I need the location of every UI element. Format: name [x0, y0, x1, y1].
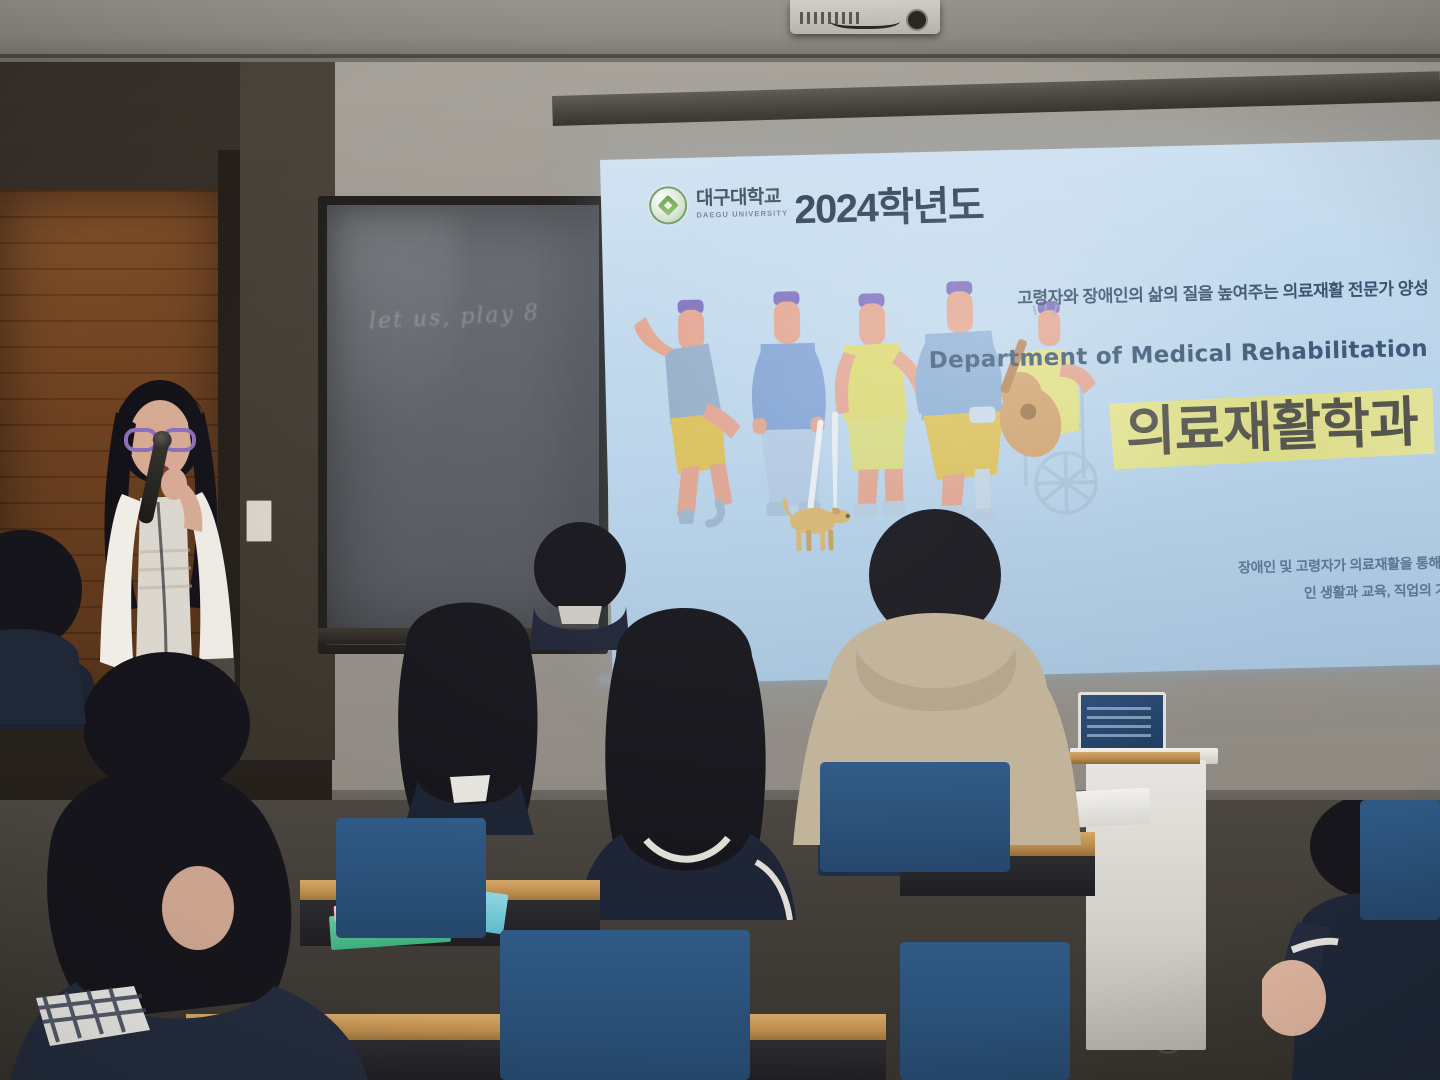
ceiling — [0, 0, 1440, 62]
university-name-kr: 대구대학교 — [696, 188, 788, 209]
chair-blue[interactable] — [900, 942, 1070, 1080]
figure-runner-with-prosthetic — [633, 297, 749, 530]
department-name-korean: 의료재활학과 — [1125, 395, 1419, 460]
student-behind-presenter — [84, 640, 254, 810]
whiteboard-glare — [337, 215, 457, 515]
ceiling-seam — [0, 54, 1440, 58]
university-name-block: 대구대학교 DAEGU UNIVERSITY — [696, 188, 788, 220]
chair-blue[interactable] — [500, 930, 750, 1080]
laptop-screen-content — [1087, 703, 1151, 737]
university-name-en: DAEGU UNIVERSITY — [696, 210, 788, 220]
projector-cable — [830, 10, 900, 29]
slide-tagline: 고령자와 장애인의 삶의 질을 높여주는 의료재활 전문가 양성 — [1017, 274, 1429, 309]
student-long-hair-center — [560, 590, 800, 920]
chair-blue[interactable] — [820, 762, 1010, 872]
university-emblem-icon — [649, 186, 688, 225]
department-title-highlight: 의료재활학과 — [1108, 388, 1434, 470]
chair-blue[interactable] — [1360, 800, 1440, 920]
slide-footnote: 장애인 및 고령자가 의료재활을 통해 인 생활과 교육, 직업의 기회를 누릴… — [1238, 550, 1440, 608]
slide-year: 2024학년도 — [793, 173, 983, 236]
student-long-hair-left — [358, 585, 573, 835]
projector-lens-icon — [906, 9, 928, 31]
student-edge-left — [0, 524, 90, 724]
classroom-presentation-photo: let us, play 8 대구대학교 DAEGU UNIVERSITY 20… — [0, 0, 1440, 1080]
figure-guitarist-in-wheelchair — [994, 298, 1109, 526]
university-brand: 대구대학교 DAEGU UNIVERSITY — [649, 183, 789, 224]
